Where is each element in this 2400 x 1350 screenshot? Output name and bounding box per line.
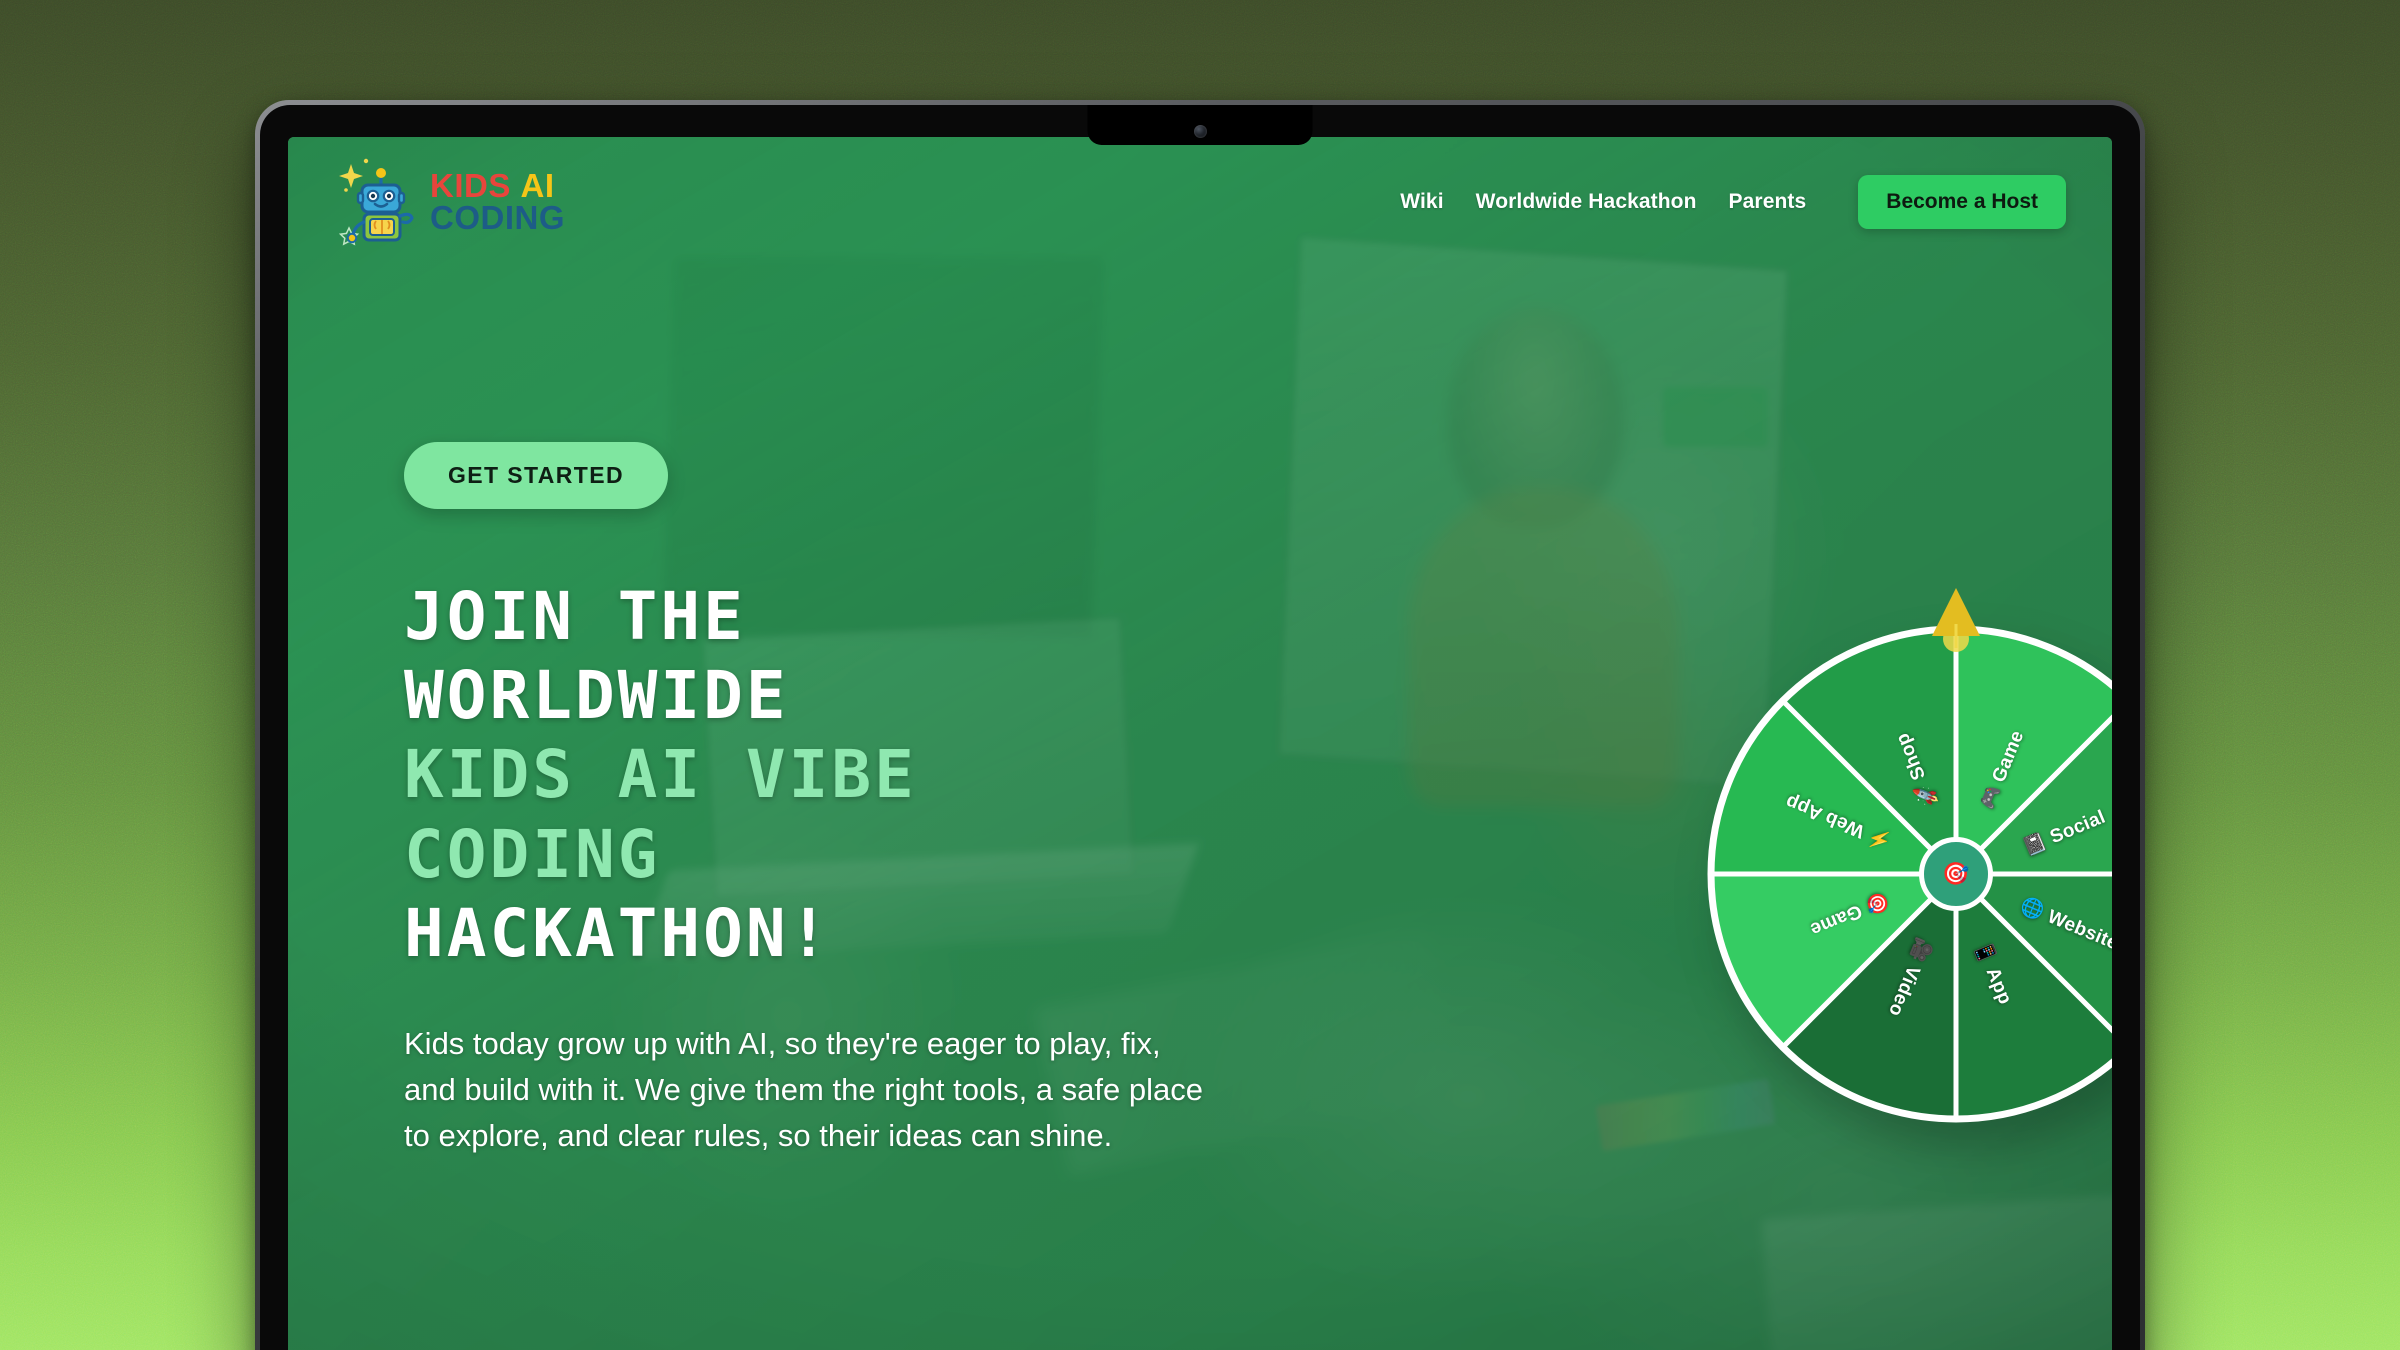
screen-viewport: KIDS AI CODING Wiki Worldwide Hackathon … xyxy=(288,137,2112,1350)
laptop-device-frame: KIDS AI CODING Wiki Worldwide Hackathon … xyxy=(255,100,2145,1350)
prize-wheel[interactable]: 🎮 Game📓 Social🌐 Website📱 App🎥 Video🎯 Gam… xyxy=(1706,624,2112,1124)
wheel-segments xyxy=(1706,624,2112,1124)
headline-line-1: JOIN THE xyxy=(404,577,1304,656)
brand-coding-text: CODING xyxy=(430,202,565,234)
page-title: JOIN THE WORLDWIDE KIDS AI VIBE CODING H… xyxy=(404,577,1304,973)
primary-nav: Wiki Worldwide Hackathon Parents Become … xyxy=(1396,175,2066,229)
site-header: KIDS AI CODING Wiki Worldwide Hackathon … xyxy=(288,137,2112,267)
wheel-hub[interactable]: 🎯 xyxy=(1919,837,1993,911)
headline-line-4: CODING xyxy=(404,815,1304,894)
brand-logo[interactable]: KIDS AI CODING xyxy=(338,156,565,248)
become-a-host-button[interactable]: Become a Host xyxy=(1858,175,2066,229)
hero-paragraph: Kids today grow up with AI, so they're e… xyxy=(404,1021,1204,1159)
laptop-bezel: KIDS AI CODING Wiki Worldwide Hackathon … xyxy=(260,105,2140,1350)
hero-section: GET STARTED JOIN THE WORLDWIDE KIDS AI V… xyxy=(404,442,1304,1159)
nav-link-wiki[interactable]: Wiki xyxy=(1396,184,1447,220)
triangle-pointer-icon xyxy=(1930,586,1982,652)
headline-line-5: HACKATHON! xyxy=(404,894,1304,973)
camera-dot-icon xyxy=(1194,125,1207,138)
robot-mascot-icon xyxy=(338,156,416,248)
notch xyxy=(1088,105,1313,145)
brand-wordmark: KIDS AI CODING xyxy=(430,170,565,235)
nav-link-parents[interactable]: Parents xyxy=(1725,184,1811,220)
page-root: KIDS AI CODING Wiki Worldwide Hackathon … xyxy=(0,0,2400,1350)
brand-line-1: KIDS AI xyxy=(430,170,565,202)
wheel-hub-icon: 🎯 xyxy=(1942,861,1969,887)
headline-line-2: WORLDWIDE xyxy=(404,656,1304,735)
headline-line-3: KIDS AI VIBE xyxy=(404,735,1304,814)
nav-link-worldwide-hackathon[interactable]: Worldwide Hackathon xyxy=(1472,184,1701,220)
get-started-button[interactable]: GET STARTED xyxy=(404,442,668,509)
